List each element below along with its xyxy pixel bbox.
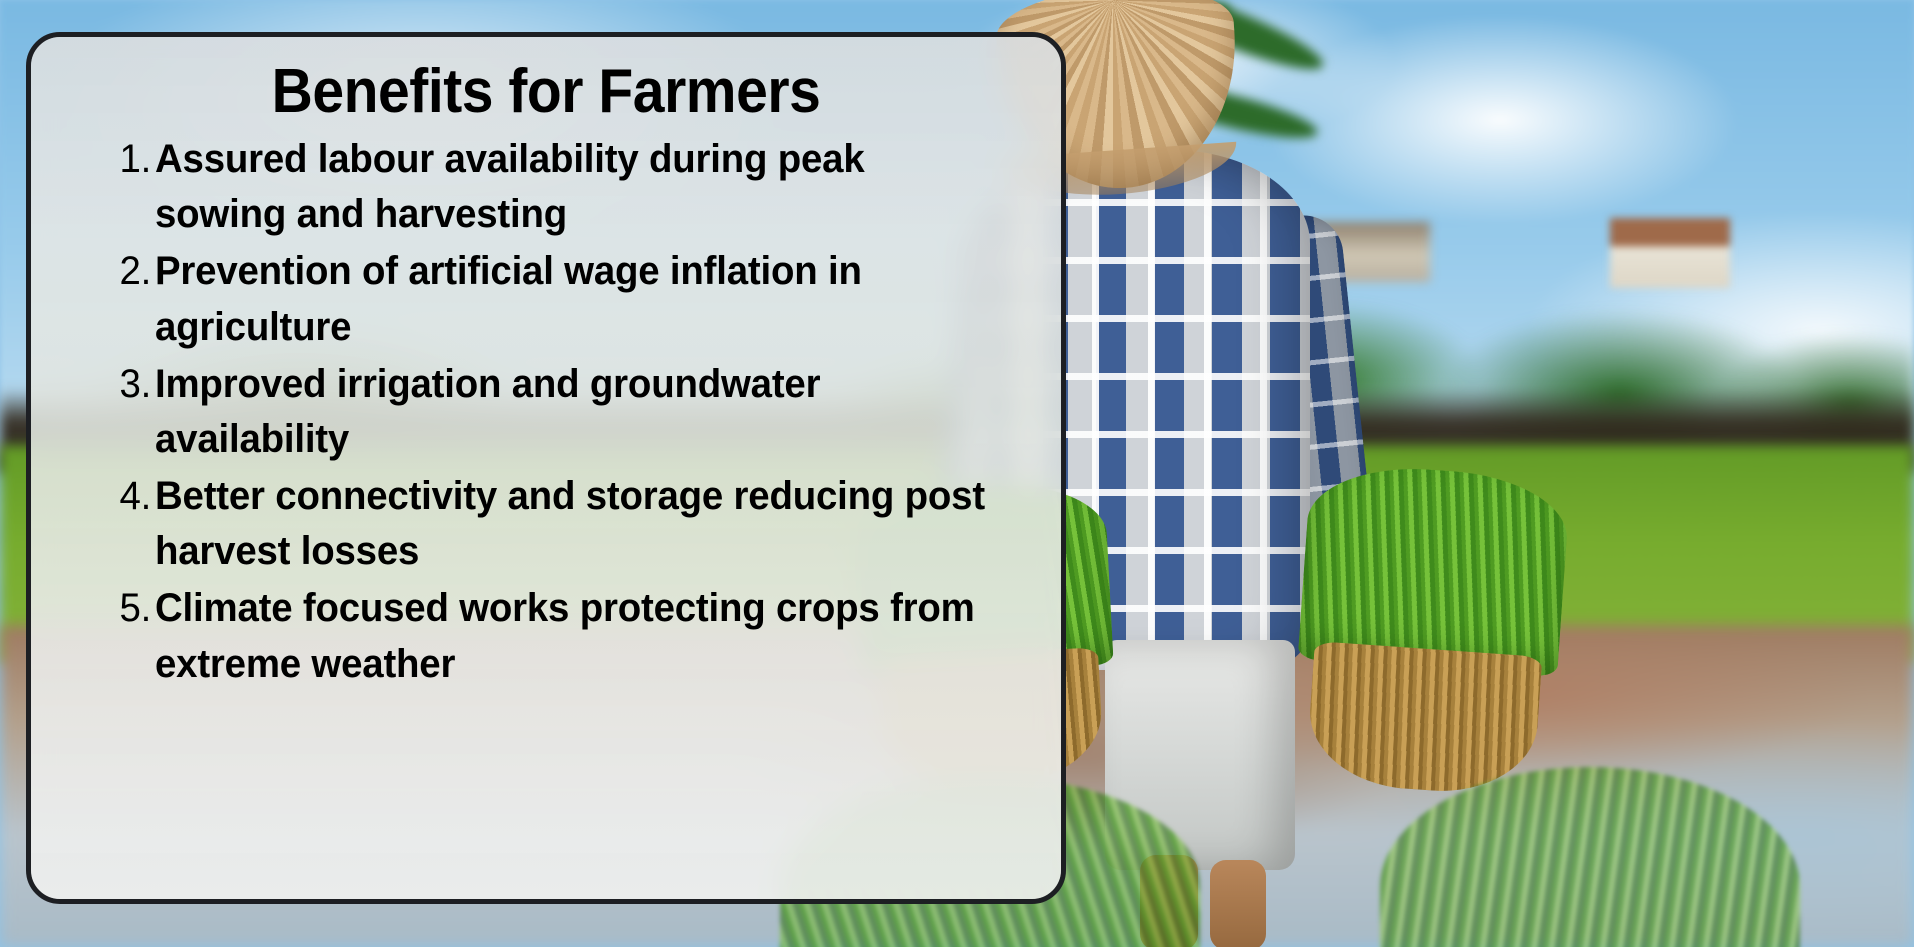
rice-seedling-bundle-right xyxy=(1289,461,1571,798)
list-item: Climate focused works protecting crops f… xyxy=(155,581,988,691)
slide-canvas: Benefits for Farmers Assured labour avai… xyxy=(0,0,1914,947)
list-item: Better connectivity and storage reducing… xyxy=(155,469,988,579)
list-item: Assured labour availability during peak … xyxy=(155,132,988,242)
seedling-roots xyxy=(1305,641,1543,797)
list-item: Prevention of artificial wage inflation … xyxy=(155,244,988,354)
benefits-list: Assured labour availability during peak … xyxy=(59,132,1033,692)
list-item: Improved irrigation and groundwater avai… xyxy=(155,357,988,467)
farmer-right-leg xyxy=(1210,860,1266,947)
benefits-card: Benefits for Farmers Assured labour avai… xyxy=(26,32,1066,904)
page-title: Benefits for Farmers xyxy=(98,59,994,126)
